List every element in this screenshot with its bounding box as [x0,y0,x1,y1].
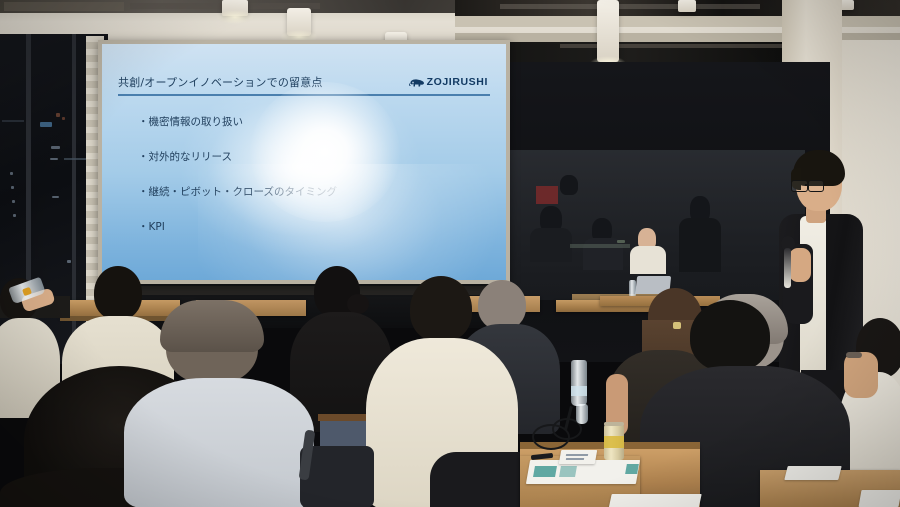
audience-head [410,276,472,342]
city-light-2 [56,113,60,117]
drink-can-lid [604,422,624,426]
slide-bullet-list: ・機密情報の取り扱い ・対外的なリリース ・継続・ピボット・クローズのタイミング… [138,114,478,254]
handout-paper [859,490,900,507]
presenter-hand [789,248,811,282]
city-light-1 [40,122,52,127]
audience-arm [844,352,878,398]
city-light-7 [10,172,13,175]
audience-head [478,280,526,330]
drink-can-label [604,436,624,448]
city-light-8 [11,186,14,189]
background-person-5 [560,175,578,195]
hair-clip [673,322,681,329]
city-light-9 [12,200,15,203]
presentation-room-photo: 共創/オープンイノベーションでの留意点 ZOJIRUSHI ・機密情報の取り扱い… [0,0,900,507]
glasses-icon [791,180,808,192]
projection-screen: 共創/オープンイノベーションでの留意点 ZOJIRUSHI ・機密情報の取り扱い… [102,44,506,280]
note-line [566,454,588,456]
note-line [566,458,584,460]
city-light-4 [51,146,60,149]
ceiling-conduit [560,44,800,48]
background-person-4-body [679,218,721,272]
slide-title-bar: 共創/オープンイノベーションでの留意点 ZOJIRUSHI [118,70,490,96]
wristwatch-icon [846,352,862,358]
slide-bullet: ・継続・ピボット・クローズのタイミング [138,184,478,199]
zojirushi-logo: ZOJIRUSHI [409,76,488,88]
audience-hair [160,300,264,352]
audience-body [124,378,314,507]
city-light-3 [62,117,65,120]
glass-cup [576,404,588,424]
handout-note [559,450,597,464]
elephant-icon [409,77,425,88]
background-indicator-light [617,240,625,243]
city-light-6 [52,196,59,198]
slide-title: 共創/オープンイノベーションでの留意点 [118,74,323,90]
water-bottle [571,360,587,406]
zojirushi-wordmark: ZOJIRUSHI [427,76,488,88]
handout-paper [608,494,701,507]
city-light-band-1 [2,120,24,122]
background-person-3-body [630,246,666,274]
ceiling-downlight-4 [678,0,696,12]
background-shelf-light [570,244,630,248]
background-red-artwork [536,186,558,204]
audience-head [94,266,142,320]
city-light-5 [50,158,58,160]
microphone-handle [784,248,791,288]
background-person-1-body [530,228,572,262]
slide-bullet: ・KPI [138,219,478,234]
slide-bullet: ・対外的なリリース [138,149,478,164]
glasses-lens-right [808,180,824,192]
audience-head [690,300,770,372]
handout-accent [559,466,577,477]
handout-accent [533,466,557,477]
bottle-label [571,386,587,396]
ceiling-duct-right [500,4,760,9]
ceiling-downlight-1-glow [216,10,254,24]
handout-accent [625,464,639,474]
audience-hair-bun [347,294,369,314]
ceiling-duct-left [4,2,124,11]
city-light-10 [13,214,16,217]
handout-paper [784,466,841,480]
slide-bullet: ・機密情報の取り扱い [138,114,478,129]
city-light-11 [67,260,71,263]
glasses-bridge [805,184,809,186]
ceiling-pendant-light-1 [597,0,619,62]
